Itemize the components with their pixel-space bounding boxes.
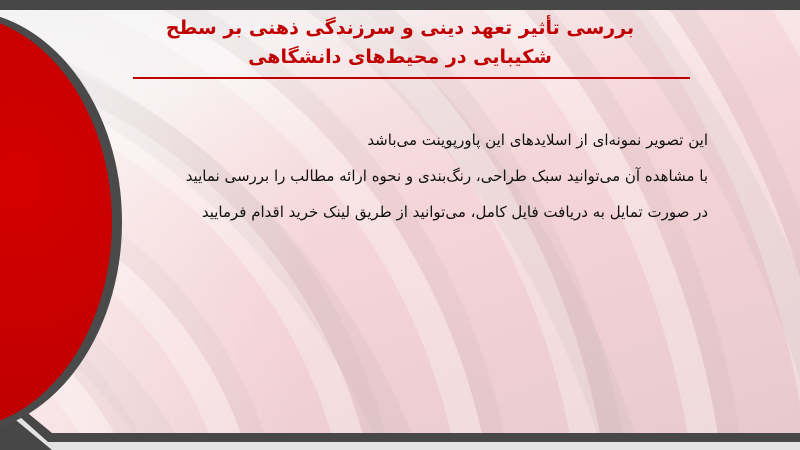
slide-canvas: بررسی تأثیر تعهد دینی و سرزندگی ذهنی بر … xyxy=(0,0,800,450)
slide-body: این تصویر نمونه‌ای از اسلایدهای این پاور… xyxy=(88,122,708,230)
title-divider-rule xyxy=(133,77,690,79)
body-line: این تصویر نمونه‌ای از اسلایدهای این پاور… xyxy=(88,122,708,158)
body-line: در صورت تمایل به دریافت فایل کامل، می‌تو… xyxy=(88,194,708,230)
slide-title: بررسی تأثیر تعهد دینی و سرزندگی ذهنی بر … xyxy=(110,14,690,72)
body-line: با مشاهده آن می‌توانید سبک طراحی، رنگ‌بن… xyxy=(88,158,708,194)
